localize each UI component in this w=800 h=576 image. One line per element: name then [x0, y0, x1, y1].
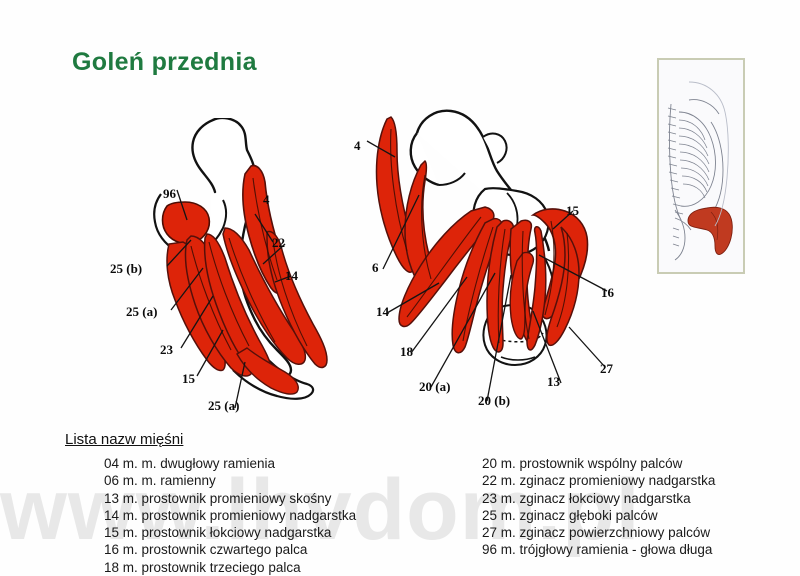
diagram-label-13: 13 — [547, 374, 560, 390]
legend-item: 14 m. prostownik promieniowy nadgarstka — [104, 507, 356, 524]
skeleton-thumbnail — [657, 58, 745, 274]
diagram-label-14: 14 — [376, 304, 389, 320]
middle-limb-diagram — [335, 105, 645, 420]
legend-heading: Lista nazw mięśni — [65, 431, 183, 448]
legend-item: 04 m. m. dwugłowy ramienia — [104, 455, 356, 472]
diagram-label-6: 6 — [372, 260, 379, 276]
legend-item: 27 m. zginacz powierzchniowy palców — [482, 524, 715, 541]
diagram-label-22: 22 — [272, 235, 285, 251]
legend-item: 18 m. prostownik trzeciego palca — [104, 559, 356, 576]
diagram-label-4: 4 — [354, 138, 361, 154]
diagram-label-25b: 25 (b) — [110, 261, 142, 277]
legend-column-right: 20 m. prostownik wspólny palców22 m. zgi… — [482, 455, 715, 559]
page-title: Goleń przednia — [72, 48, 257, 77]
legend-item: 20 m. prostownik wspólny palców — [482, 455, 715, 472]
diagram-label-16: 16 — [601, 285, 614, 301]
left-muscle-group — [163, 166, 328, 394]
legend-item: 25 m. zginacz głęboki palców — [482, 507, 715, 524]
legend-item: 23 m. zginacz łokciowy nadgarstka — [482, 490, 715, 507]
skeleton-thumbnail-svg — [659, 60, 743, 272]
diagram-label-25a: 25 (a) — [208, 398, 239, 414]
diagram-label-4: 4 — [263, 192, 270, 208]
diagram-label-15: 15 — [182, 371, 195, 387]
legend-item: 15 m. prostownik łokciowy nadgarstka — [104, 524, 356, 541]
diagram-label-25a: 25 (a) — [126, 304, 157, 320]
legend-item: 13 m. prostownik promieniowy skośny — [104, 490, 356, 507]
diagram-label-23: 23 — [160, 342, 173, 358]
slide-page: www.lhvdom.pl Goleń przednia — [0, 0, 800, 576]
legend-item: 22 m. zginacz promieniowy nadgarstka — [482, 472, 715, 489]
legend-column-left: 04 m. m. dwugłowy ramienia06 m. m. ramie… — [104, 455, 356, 576]
legend-item: 06 m. m. ramienny — [104, 472, 356, 489]
diagram-label-14: 14 — [285, 268, 298, 284]
diagram-label-27: 27 — [600, 361, 613, 377]
diagram-label-20b: 20 (b) — [478, 393, 510, 409]
diagram-label-18: 18 — [400, 344, 413, 360]
legend-item: 16 m. prostownik czwartego palca — [104, 541, 356, 558]
legend-item: 96 m. trójgłowy ramienia - głowa długa — [482, 541, 715, 558]
diagram-label-96: 96 — [163, 186, 176, 202]
diagram-label-15: 15 — [566, 203, 579, 219]
diagram-label-20a: 20 (a) — [419, 379, 450, 395]
